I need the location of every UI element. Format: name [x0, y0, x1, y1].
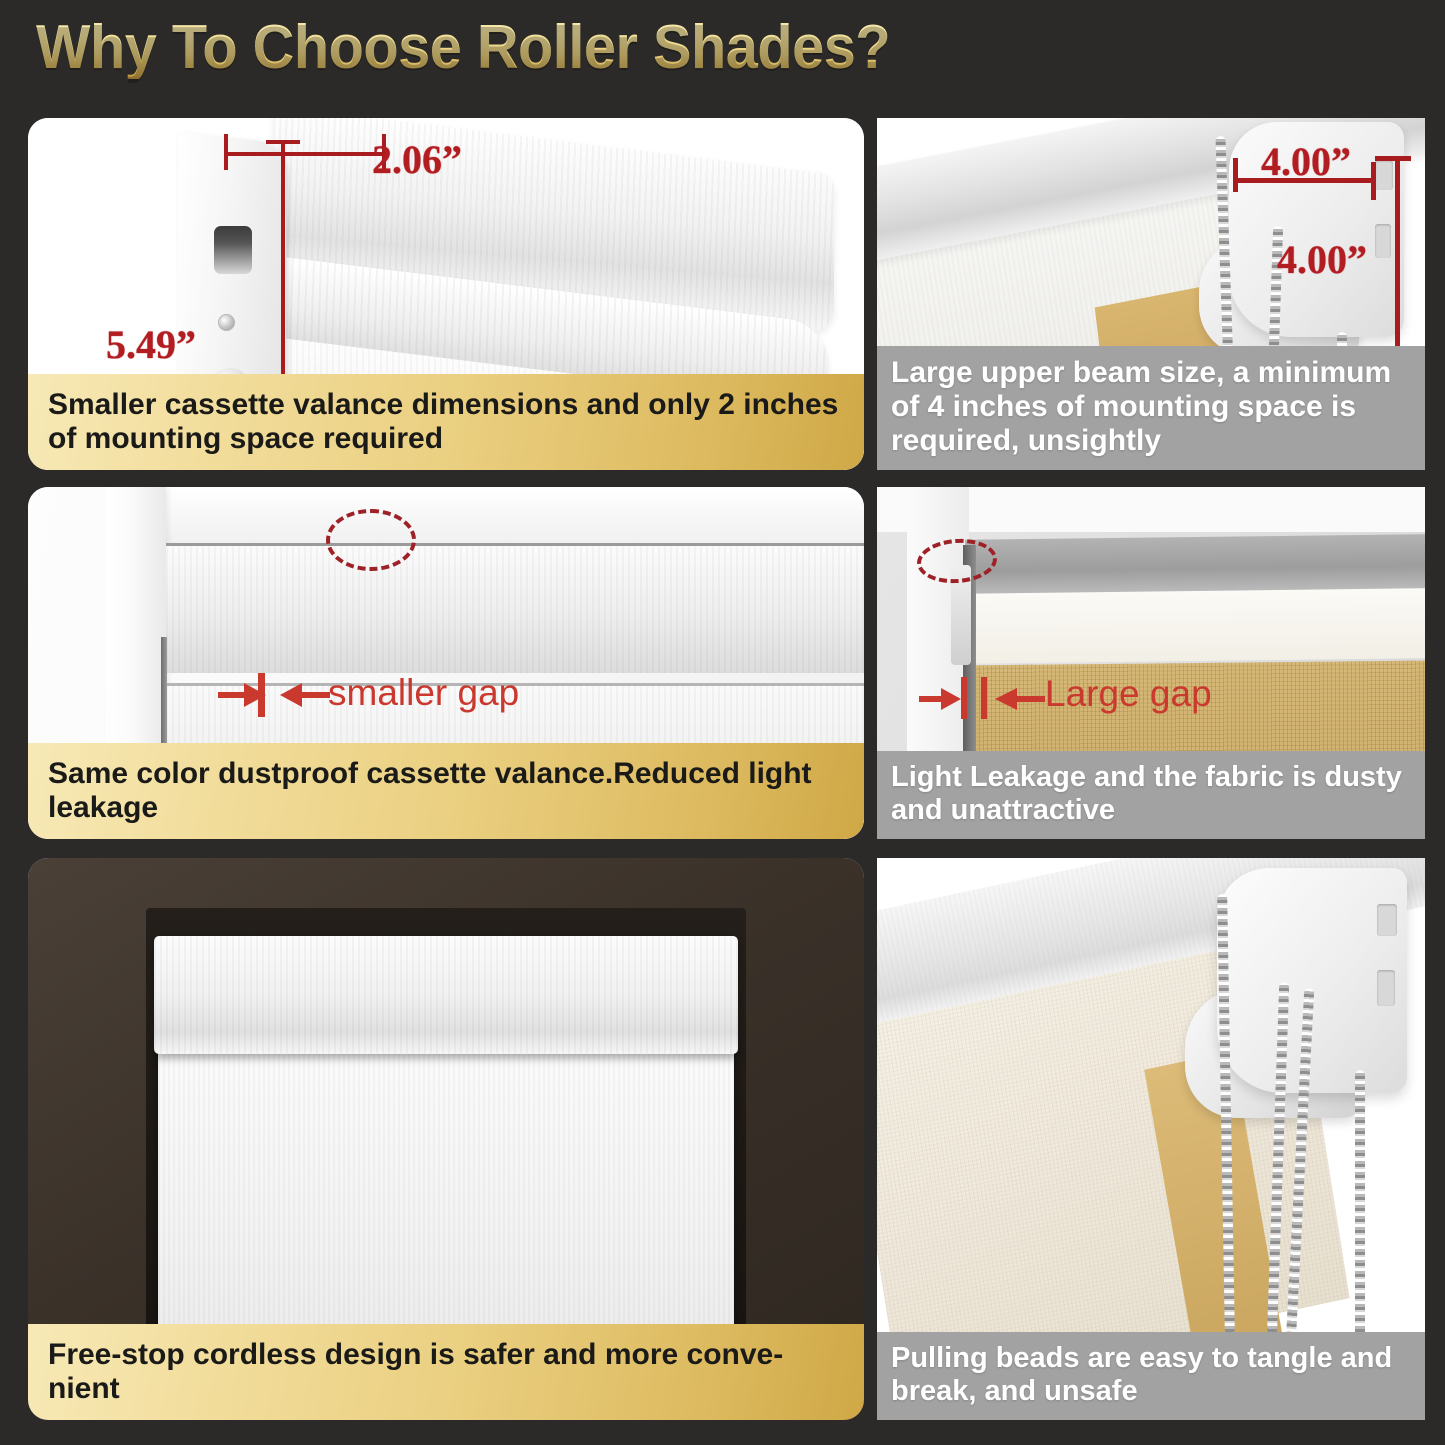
bracket-slot-b — [1377, 970, 1395, 1006]
gap-marker-bar — [258, 673, 265, 717]
endcap-slot-shape — [214, 226, 252, 274]
panel-3-caption: Same color dustproof cassette valance.Re… — [28, 743, 864, 839]
beam-width-tick-left — [1233, 158, 1238, 192]
width-tick-left — [224, 134, 228, 170]
beam-height-label: 4.00” — [1277, 236, 1367, 283]
beam-height-line — [1395, 158, 1400, 368]
comparison-grid: 2.06” 5.49” Smaller cassette valance dim… — [0, 0, 1445, 1445]
endcap-screw-icon — [218, 314, 235, 331]
panel-2-caption: Large upper beam size, a minimum of 4 in… — [877, 346, 1425, 470]
panel-5-caption: Free-stop cordless design is safer and m… — [28, 1324, 864, 1420]
panel-4-caption: Light Leakage and the fabric is dusty an… — [877, 751, 1425, 839]
window-frame-header — [106, 487, 864, 545]
competitor-beam-bottom — [965, 588, 1425, 664]
bracket-slot-a — [1375, 160, 1393, 190]
cassette-valance-shape — [166, 543, 864, 673]
cassette-valance-shape — [154, 936, 738, 1054]
panel-dustproof-valance: smaller gap Same color dustproof cassett… — [28, 487, 864, 839]
panel-smaller-cassette: 2.06” 5.49” Smaller cassette valance dim… — [28, 118, 864, 470]
panel-light-leakage: Large gap Light Leakage and the fabric i… — [877, 487, 1425, 839]
beam-width-tick-right — [1371, 162, 1376, 200]
width-dimension-line — [224, 152, 386, 156]
panel-cordless-design: Free-stop cordless design is safer and m… — [28, 858, 864, 1420]
height-dimension-label: 5.49” — [106, 321, 196, 368]
panel-pulling-beads: Pulling beads are easy to tangle and bre… — [877, 858, 1425, 1420]
panel-1-caption: Smaller cassette valance dimensions and … — [28, 374, 864, 470]
bracket-slot-b — [1375, 224, 1391, 258]
smaller-gap-label: smaller gap — [328, 672, 519, 714]
panel-large-beam: 4.00” 4.00” Large upper beam size, a min… — [877, 118, 1425, 470]
panel-6-caption: Pulling beads are easy to tangle and bre… — [877, 1332, 1425, 1420]
bead-chain-4 — [1355, 1070, 1365, 1340]
large-gap-label: Large gap — [1045, 673, 1212, 715]
beam-height-tick-top — [1375, 156, 1411, 161]
gap-highlight-ellipse — [326, 509, 416, 571]
width-dimension-label: 2.06” — [372, 136, 462, 183]
beam-width-label: 4.00” — [1261, 138, 1351, 185]
gap-marker-bar-a — [961, 677, 967, 719]
height-tick-top — [266, 140, 300, 144]
bracket-slot-a — [1377, 904, 1397, 936]
